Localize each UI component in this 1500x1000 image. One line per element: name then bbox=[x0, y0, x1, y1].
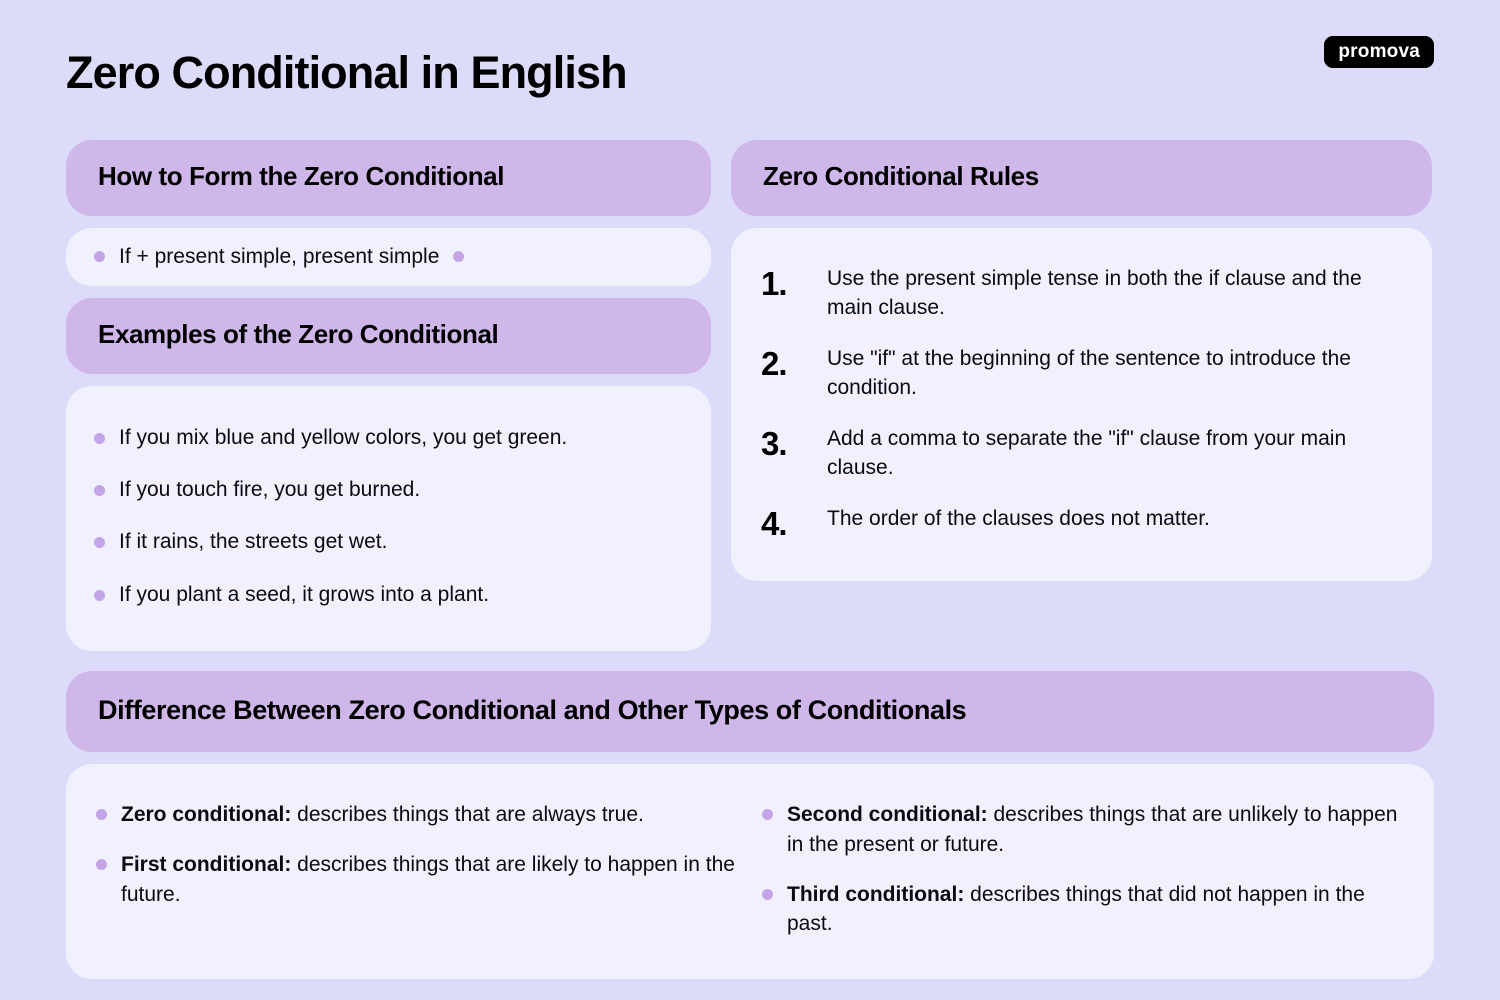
rules-header: Zero Conditional Rules bbox=[731, 140, 1432, 216]
page-title: Zero Conditional in English bbox=[66, 43, 627, 96]
difference-left-column: Zero conditional: describes things that … bbox=[96, 790, 738, 949]
list-item: If you mix blue and yellow colors, you g… bbox=[94, 412, 683, 464]
rule-number: 1. bbox=[761, 265, 805, 300]
bullet-icon bbox=[94, 485, 105, 496]
list-item: First conditional: describes things that… bbox=[96, 840, 738, 920]
difference-item: Zero conditional: describes things that … bbox=[121, 800, 644, 830]
difference-panel: Zero conditional: describes things that … bbox=[66, 764, 1434, 979]
difference-item-label: Second conditional: bbox=[787, 803, 988, 826]
infographic-page: Zero Conditional in English promova How … bbox=[0, 0, 1500, 1000]
difference-section: Difference Between Zero Conditional and … bbox=[66, 671, 1434, 979]
example-text: If you plant a seed, it grows into a pla… bbox=[119, 582, 489, 608]
list-item: Third conditional: describes things that… bbox=[762, 870, 1404, 950]
examples-panel: If you mix blue and yellow colors, you g… bbox=[66, 386, 711, 651]
rules-panel: 1. Use the present simple tense in both … bbox=[731, 228, 1432, 581]
rule-number: 3. bbox=[761, 425, 805, 460]
difference-item: Third conditional: describes things that… bbox=[787, 880, 1404, 940]
rule-text: The order of the clauses does not matter… bbox=[827, 505, 1210, 534]
list-item: Zero conditional: describes things that … bbox=[96, 790, 738, 840]
main-columns: How to Form the Zero Conditional If + pr… bbox=[66, 140, 1434, 651]
bullet-icon bbox=[96, 809, 107, 820]
list-item: If you plant a seed, it grows into a pla… bbox=[94, 569, 683, 621]
list-item: If you touch fire, you get burned. bbox=[94, 464, 683, 516]
list-item: If it rains, the streets get wet. bbox=[94, 516, 683, 568]
bullet-icon bbox=[94, 433, 105, 444]
difference-item: First conditional: describes things that… bbox=[121, 850, 738, 910]
how-to-form-title: How to Form the Zero Conditional bbox=[98, 162, 679, 192]
difference-item-label: Zero conditional: bbox=[121, 803, 291, 826]
difference-item-label: First conditional: bbox=[121, 853, 291, 876]
formula-text: If + present simple, present simple bbox=[119, 244, 439, 269]
difference-header: Difference Between Zero Conditional and … bbox=[66, 671, 1434, 752]
examples-title: Examples of the Zero Conditional bbox=[98, 320, 679, 350]
example-text: If you mix blue and yellow colors, you g… bbox=[119, 425, 567, 451]
list-item: 1. Use the present simple tense in both … bbox=[761, 254, 1402, 334]
difference-item-label: Third conditional: bbox=[787, 883, 964, 906]
difference-title: Difference Between Zero Conditional and … bbox=[98, 695, 1402, 726]
right-column: Zero Conditional Rules 1. Use the presen… bbox=[731, 140, 1432, 581]
example-text: If it rains, the streets get wet. bbox=[119, 529, 387, 555]
rule-text: Use the present simple tense in both the… bbox=[827, 265, 1402, 323]
bullet-icon bbox=[94, 590, 105, 601]
bullet-icon bbox=[762, 889, 773, 900]
list-item: Second conditional: describes things tha… bbox=[762, 790, 1404, 870]
list-item: 2. Use "if" at the beginning of the sent… bbox=[761, 334, 1402, 414]
promova-logo: promova bbox=[1324, 36, 1434, 68]
rules-title: Zero Conditional Rules bbox=[763, 162, 1400, 192]
difference-right-column: Second conditional: describes things tha… bbox=[762, 790, 1404, 949]
bullet-icon bbox=[762, 809, 773, 820]
list-item: 4. The order of the clauses does not mat… bbox=[761, 494, 1402, 551]
left-column: How to Form the Zero Conditional If + pr… bbox=[66, 140, 711, 651]
rule-number: 4. bbox=[761, 505, 805, 540]
bullet-icon bbox=[94, 537, 105, 548]
bullet-icon bbox=[94, 251, 105, 262]
example-text: If you touch fire, you get burned. bbox=[119, 477, 420, 503]
bullet-icon bbox=[96, 859, 107, 870]
how-to-form-header: How to Form the Zero Conditional bbox=[66, 140, 711, 216]
bullet-icon-trailing bbox=[453, 251, 464, 262]
rule-number: 2. bbox=[761, 345, 805, 380]
rule-text: Use "if" at the beginning of the sentenc… bbox=[827, 345, 1402, 403]
difference-item-text: describes things that are always true. bbox=[291, 803, 644, 826]
rule-text: Add a comma to separate the "if" clause … bbox=[827, 425, 1402, 483]
formula-panel: If + present simple, present simple bbox=[66, 228, 711, 286]
examples-header: Examples of the Zero Conditional bbox=[66, 298, 711, 374]
header-bar: Zero Conditional in English promova bbox=[66, 0, 1434, 140]
list-item: 3. Add a comma to separate the "if" clau… bbox=[761, 414, 1402, 494]
difference-item: Second conditional: describes things tha… bbox=[787, 800, 1404, 860]
